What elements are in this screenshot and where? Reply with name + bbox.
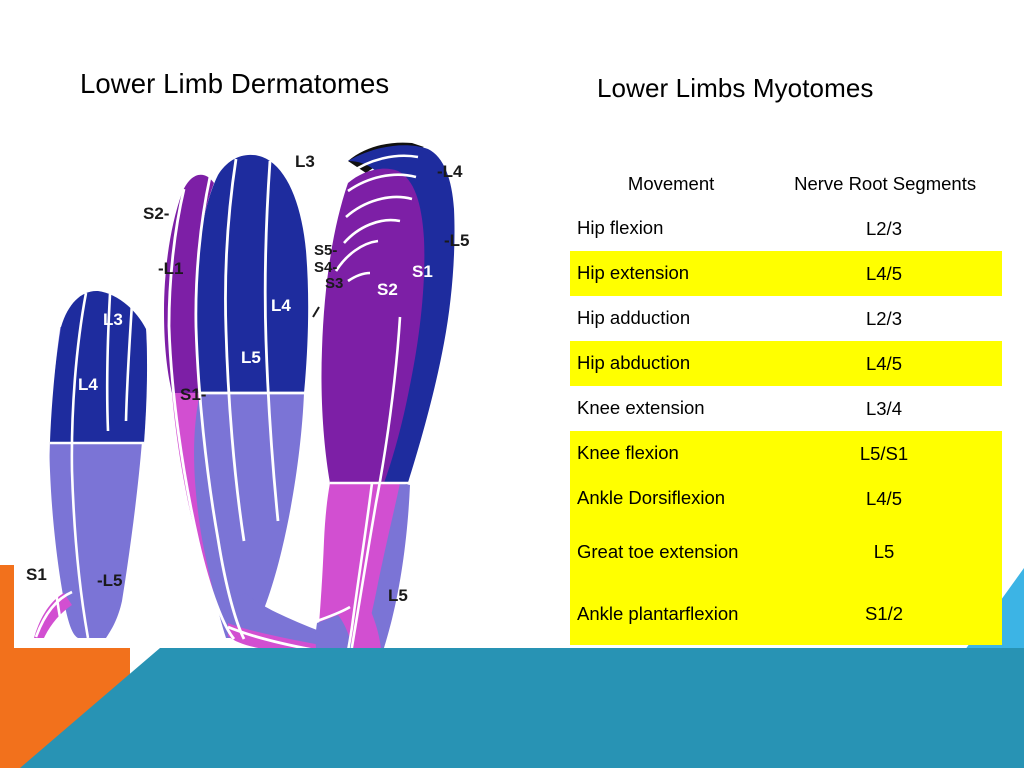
dermatome-label-L5: -L5 <box>97 571 123 590</box>
dermatome-label-S1: S1- <box>180 385 206 404</box>
table-row: Ankle DorsiflexionL4/5 <box>570 476 1002 521</box>
page-title-myotomes: Lower Limbs Myotomes <box>597 73 874 104</box>
cell-nerve-root: L4/5 <box>766 488 1002 510</box>
dermatome-label-L5: -L5 <box>444 231 470 250</box>
cell-movement: Great toe extension <box>570 541 766 564</box>
cell-movement: Hip abduction <box>570 352 766 375</box>
dermatome-label-S2: S2- <box>143 204 169 223</box>
dermatome-diagram: S2--L1L2L3L4S1-L5L3L4L5S1-S5-S4-S3-L4-L5… <box>14 131 495 648</box>
column-header-movement: Movement <box>570 173 768 195</box>
dermatome-figure-right <box>314 143 455 648</box>
cell-movement: Ankle plantarflexion <box>570 603 766 626</box>
dermatome-label-L4: -L4 <box>437 162 463 181</box>
cell-movement: Hip flexion <box>570 217 766 240</box>
cell-movement: Hip extension <box>570 262 766 285</box>
teal-shape <box>20 648 1024 768</box>
dermatome-label-L5: L5 <box>388 586 408 605</box>
dermatome-label-S1: S1 <box>26 565 47 584</box>
table-row: Hip extensionL4/5 <box>570 251 1002 296</box>
dermatome-label-L4: L4 <box>78 375 98 394</box>
myotome-table: Movement Nerve Root Segments Hip flexion… <box>570 162 1002 645</box>
cell-nerve-root: L4/5 <box>766 263 1002 285</box>
cell-movement: Knee flexion <box>570 442 766 465</box>
slide-canvas: Lower Limb Dermatomes Lower Limbs Myotom… <box>0 0 1024 768</box>
dermatome-label-L4: L4 <box>271 296 291 315</box>
dermatome-label-S4: S4- <box>314 259 337 276</box>
dermatome-label-S2: S2 <box>377 280 398 299</box>
cell-nerve-root: L2/3 <box>766 308 1002 330</box>
table-row: Hip adductionL2/3 <box>570 296 1002 341</box>
cell-movement: Knee extension <box>570 397 766 420</box>
dermatome-label-S5: S5- <box>314 242 337 259</box>
table-row: Ankle plantarflexionS1/2 <box>570 583 1002 645</box>
cell-nerve-root: L5 <box>766 541 1002 563</box>
table-row: Knee extensionL3/4 <box>570 386 1002 431</box>
dermatome-label-L2: L2 <box>125 270 145 289</box>
cell-nerve-root: L2/3 <box>766 218 1002 240</box>
cell-nerve-root: L4/5 <box>766 353 1002 375</box>
dermatome-figure-left <box>34 291 147 638</box>
table-row: Knee flexionL5/S1 <box>570 431 1002 476</box>
cell-nerve-root: L3/4 <box>766 398 1002 420</box>
page-title-dermatomes: Lower Limb Dermatomes <box>80 68 389 100</box>
table-row: Hip flexionL2/3 <box>570 206 1002 251</box>
dermatome-label-L3: L3 <box>103 310 123 329</box>
table-header-row: Movement Nerve Root Segments <box>570 162 1002 206</box>
left-foot-S1-wedge <box>34 593 72 638</box>
cell-movement: Ankle Dorsiflexion <box>570 487 766 510</box>
dermatome-label-L1: -L1 <box>158 259 184 278</box>
dermatome-image-panel: S2--L1L2L3L4S1-L5L3L4L5S1-S5-S4-S3-L4-L5… <box>14 131 495 648</box>
dermatome-label-L3: L3 <box>295 152 315 171</box>
dermatome-label-L5: L5 <box>241 348 261 367</box>
cell-movement: Hip adduction <box>570 307 766 330</box>
column-header-nerve-root: Nerve Root Segments <box>768 173 1002 195</box>
dermatome-label-S3: S3 <box>325 275 343 292</box>
cell-nerve-root: S1/2 <box>766 603 1002 625</box>
cell-nerve-root: L5/S1 <box>766 443 1002 465</box>
table-row: Great toe extensionL5 <box>570 521 1002 583</box>
table-row: Hip abductionL4/5 <box>570 341 1002 386</box>
table-body: Hip flexionL2/3Hip extensionL4/5Hip addu… <box>570 206 1002 645</box>
dermatome-label-S1: S1 <box>412 262 433 281</box>
